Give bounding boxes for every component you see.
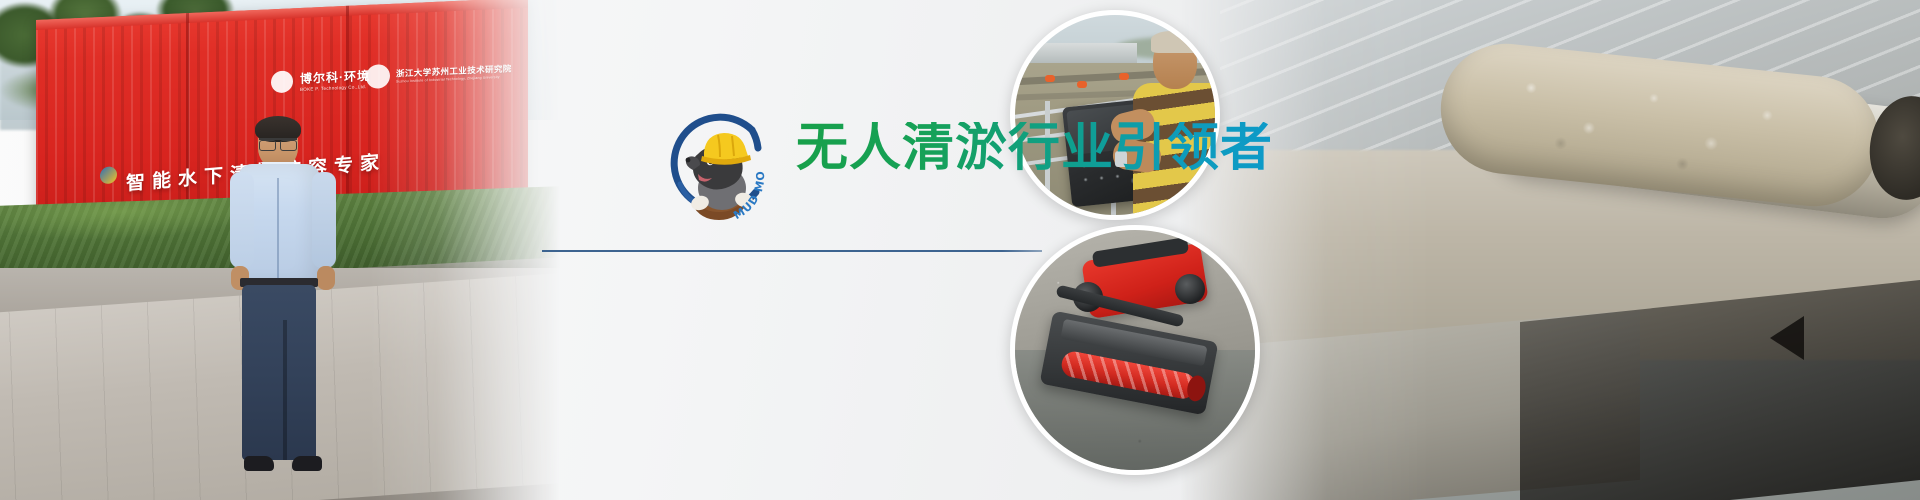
- center-content: MUD MOLE 无人清淤行业引领者: [660, 0, 1220, 500]
- engineer-left-sleeve: [230, 172, 254, 268]
- mud-mole-logo-svg: MUD MOLE: [660, 108, 778, 226]
- engineer-right-sleeve: [312, 172, 336, 268]
- hero-banner: 博尔科·环境 BOKE P. Technology Co.,Ltd. 浙江大学苏…: [0, 0, 1920, 500]
- headline-divider: [542, 250, 1042, 252]
- engineer-figure: [228, 120, 338, 500]
- mud-mole-logo[interactable]: MUD MOLE: [660, 108, 778, 226]
- container-and-engineer-photo: 博尔科·环境 BOKE P. Technology Co.,Ltd. 浙江大学苏…: [0, 0, 560, 500]
- engineer-shirt-placket: [277, 178, 279, 278]
- engineer-right-hand: [317, 266, 335, 290]
- arrow-icon: [1770, 316, 1804, 360]
- engineer-leg-split: [283, 320, 287, 460]
- page-title: 无人清淤行业引领者: [796, 122, 1273, 174]
- engineer-left-shoe: [244, 456, 274, 471]
- glasses-icon: [259, 138, 297, 149]
- engineer-right-shoe: [292, 456, 322, 471]
- container-brand-primary: 博尔科·环境 BOKE P. Technology Co.,Ltd.: [300, 67, 370, 92]
- sludge-discharge-pipe-photo: [1180, 0, 1920, 500]
- engineer-pants: [242, 285, 316, 460]
